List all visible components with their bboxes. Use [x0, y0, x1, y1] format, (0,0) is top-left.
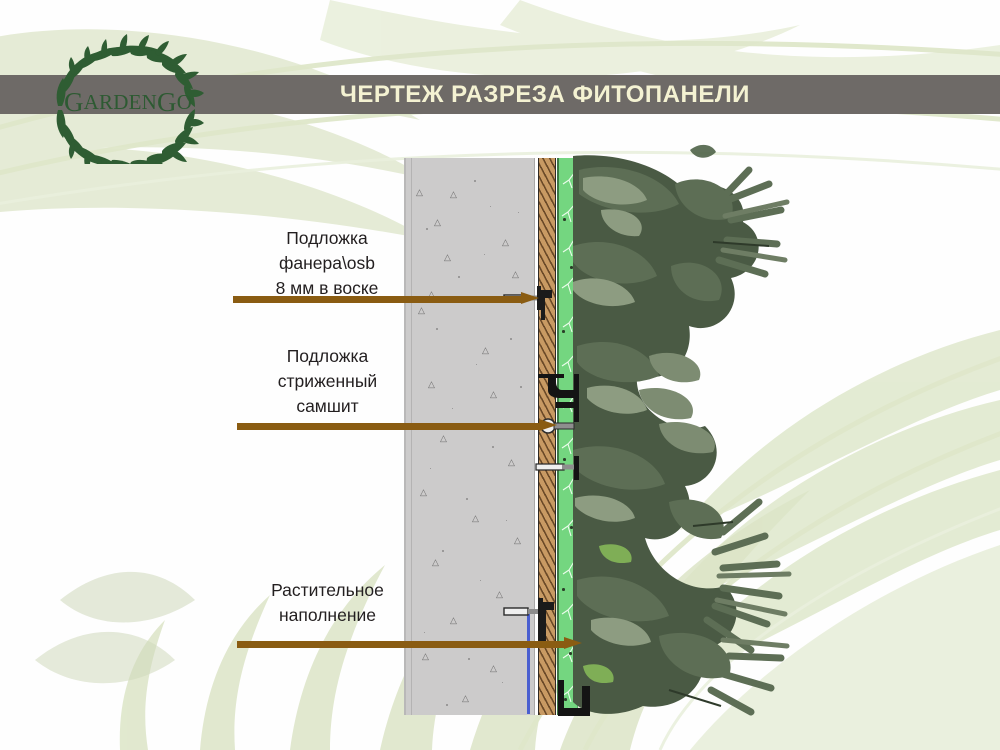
callout-line-2: фанера\osb — [279, 253, 375, 273]
page-title: ЧЕРТЕЖ РАЗРЕЗА ФИТОПАНЕЛИ — [265, 75, 825, 114]
callout-line-1: Растительное — [271, 580, 384, 600]
callout-line-2: стриженный — [278, 371, 377, 391]
plant-foliage-mass — [573, 150, 833, 720]
callout-line-3: самшит — [296, 396, 358, 416]
callout-label-plant-filling: Растительноенаполнение — [245, 578, 410, 628]
brand-wordmark: GARDENGO — [38, 82, 218, 122]
callout-arrow-plywood-osb — [233, 292, 539, 305]
callout-label-boxwood-underlay: Подложкастриженныйсамшит — [250, 344, 405, 419]
callout-label-plywood-osb: Подложкафанера\osb8 мм в воске — [252, 226, 402, 301]
callout-line-1: Подложка — [286, 228, 368, 248]
slide-canvas: △ △ △ △ △ △ △ △ △ △ △ △ △ △ △ △ △ △ △ △ … — [0, 0, 1000, 750]
wall-edge-line — [411, 158, 412, 715]
base-channel-icon — [556, 678, 596, 720]
foliage-leaves-icon — [573, 150, 833, 720]
brand-logo[interactable]: GARDENGO — [38, 32, 218, 164]
callout-line-1: Подложка — [287, 346, 369, 366]
callout-arrow-boxwood-underlay — [237, 419, 557, 432]
callout-arrow-plant-filling — [237, 637, 582, 650]
callout-line-2: наполнение — [279, 605, 376, 625]
